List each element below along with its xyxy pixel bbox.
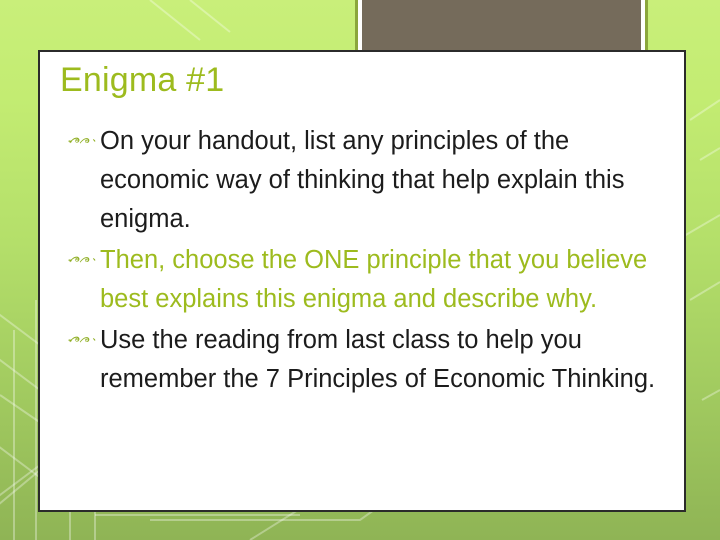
presentation-slide: Enigma #1 On your handout, list any prin…	[0, 0, 720, 540]
list-item-label: On your handout, list any principles of …	[100, 122, 670, 239]
list-item: Then, choose the ONE principle that you …	[58, 241, 670, 319]
list-item-label: Use the reading from last class to help …	[100, 321, 670, 399]
list-item-label: Then, choose the ONE principle that you …	[100, 241, 670, 319]
flourish-swirl-icon	[68, 122, 98, 161]
slide-content-panel: Enigma #1 On your handout, list any prin…	[38, 50, 686, 512]
list-item: On your handout, list any principles of …	[58, 122, 670, 239]
page-title: Enigma #1	[60, 61, 224, 100]
bullet-list: On your handout, list any principles of …	[58, 122, 670, 401]
flourish-swirl-icon	[68, 321, 98, 360]
flourish-swirl-icon	[68, 241, 98, 280]
list-item: Use the reading from last class to help …	[58, 321, 670, 399]
